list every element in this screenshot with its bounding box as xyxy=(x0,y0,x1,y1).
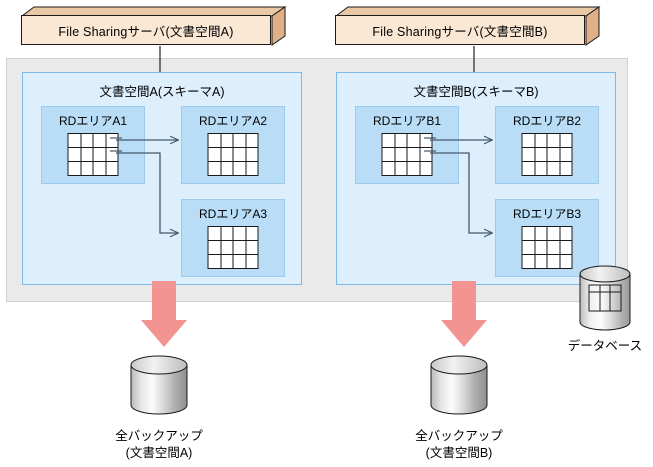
server-box-b-face: File Sharingサーバ(文書空間B) xyxy=(335,15,585,45)
server-box-a: File Sharingサーバ(文書空間A) xyxy=(21,6,285,46)
rd-area-b2-label: RDエリアB2 xyxy=(496,112,598,129)
server-box-b: File Sharingサーバ(文書空間B) xyxy=(335,6,599,46)
backup-label-b-line2: (文書空間B) xyxy=(379,445,539,462)
rd-area-b2-table xyxy=(522,133,573,176)
rd-area-a2: RDエリアA2 xyxy=(181,106,285,184)
database-label-text: データベース xyxy=(545,338,653,355)
rd-area-a2-label: RDエリアA2 xyxy=(182,112,284,129)
backup-cylinder-a xyxy=(131,356,187,414)
diagram-root: File Sharingサーバ(文書空間A) File Sharingサーバ(文… xyxy=(0,0,653,467)
server-box-a-face: File Sharingサーバ(文書空間A) xyxy=(21,15,271,45)
rd-area-a3-label: RDエリアA3 xyxy=(182,205,284,222)
rd-area-b3: RDエリアB3 xyxy=(495,199,599,277)
rd-area-b1: RDエリアB1 xyxy=(355,106,459,184)
backup-cylinder-b xyxy=(431,356,487,414)
rd-area-a1-label: RDエリアA1 xyxy=(42,112,144,129)
rd-area-b2: RDエリアB2 xyxy=(495,106,599,184)
database-label: データベース xyxy=(545,338,653,355)
backup-label-b-line1: 全バックアップ xyxy=(379,428,539,445)
schema-title-a: 文書空間A(スキーマA) xyxy=(23,81,301,100)
backup-label-a-line2: (文書空間A) xyxy=(79,445,239,462)
server-label-b: File Sharingサーバ(文書空間B) xyxy=(372,21,547,40)
backup-label-b: 全バックアップ (文書空間B) xyxy=(379,428,539,462)
rd-area-a3: RDエリアA3 xyxy=(181,199,285,277)
rd-area-b1-table xyxy=(382,133,433,176)
rd-area-b3-label: RDエリアB3 xyxy=(496,205,598,222)
rd-area-a3-table xyxy=(208,226,259,269)
server-label-a: File Sharingサーバ(文書空間A) xyxy=(58,21,233,40)
rd-area-b3-table xyxy=(522,226,573,269)
rd-area-b1-label: RDエリアB1 xyxy=(356,112,458,129)
schema-title-b: 文書空間B(スキーマB) xyxy=(337,81,615,100)
rd-area-a1: RDエリアA1 xyxy=(41,106,145,184)
backup-label-a: 全バックアップ (文書空間A) xyxy=(79,428,239,462)
rd-area-a2-table xyxy=(208,133,259,176)
backup-label-a-line1: 全バックアップ xyxy=(79,428,239,445)
rd-area-a1-table xyxy=(68,133,119,176)
